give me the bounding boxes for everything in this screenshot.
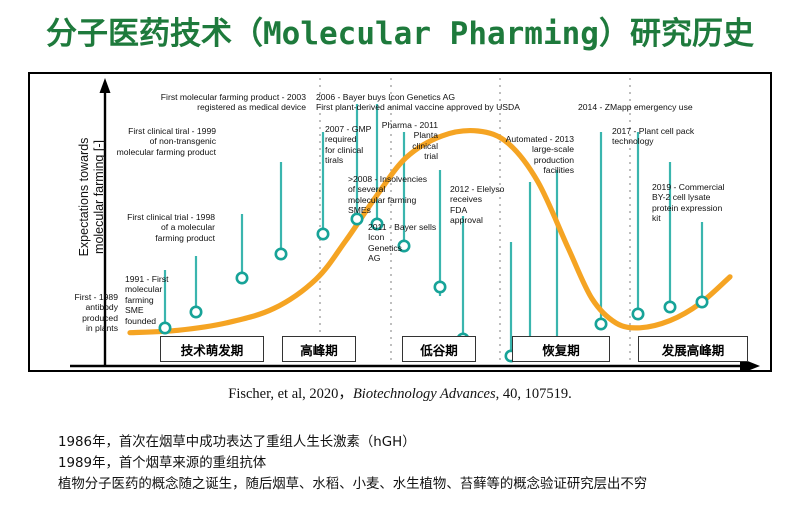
citation: Fischer, et al, 2020，Biotechnology Advan…: [0, 382, 800, 403]
event-annotation-2011a: Pharma - 2011 Planta clinical trial: [362, 120, 438, 162]
curve-marker: [318, 229, 328, 239]
curve-marker: [665, 302, 675, 312]
citation-suffix: , 40, 107519.: [496, 386, 572, 402]
curve-marker: [596, 319, 606, 329]
curve-marker: [191, 307, 201, 317]
curve-marker: [633, 309, 643, 319]
phase-box-2: 高峰期: [282, 336, 356, 362]
event-annotation-2008: >2008 - Insolvencies of several molecula…: [348, 174, 450, 216]
curve-marker: [697, 297, 707, 307]
event-annotation-1989: First - 1989 antibody produced in plants: [40, 292, 118, 334]
note-line-1: 1986年，首次在烟草中成功表达了重组人生长激素（hGH）: [58, 432, 788, 453]
phase-box-3: 低谷期: [402, 336, 476, 362]
event-annotation-1999: First clinical tiral - 1999 of non-trans…: [38, 126, 216, 157]
event-annotation-2011b: 2011 - Bayer sells Icon Genetics AG: [368, 222, 446, 264]
phase-box-5: 发展高峰期: [638, 336, 748, 362]
citation-prefix: Fischer, et al, 2020，: [228, 386, 353, 402]
event-annotation-2003: First molecular farming product - 2003 r…: [88, 92, 306, 113]
curve-marker: [276, 249, 286, 259]
event-annotation-2006: 2006 - Bayer buys Icon Genetics AG First…: [316, 92, 576, 113]
chart-container: Expectations towards molecular farming […: [28, 72, 772, 372]
note-line-2: 1989年，首个烟草来源的重组抗体: [58, 453, 788, 474]
citation-journal: Biotechnology Advances: [353, 386, 496, 402]
event-annotation-2013: Automated - 2013 large-scale production …: [470, 134, 574, 176]
event-annotation-1998: First clinical trial - 1998 of a molecul…: [65, 212, 215, 243]
phase-box-1: 技术萌发期: [160, 336, 264, 362]
curve-marker: [435, 282, 445, 292]
event-annotation-2014: 2014 - ZMapp emergency use: [578, 102, 728, 112]
phase-box-4: 恢复期: [512, 336, 610, 362]
y-axis-label: Expectations towards molecular farming […: [77, 92, 107, 302]
event-annotation-1991: 1991 - First molecular farming SME found…: [125, 274, 187, 326]
event-annotation-2017: 2017 - Plant cell pack technology: [612, 126, 722, 147]
y-axis-arrow-icon: [100, 78, 111, 93]
note-line-3: 植物分子医药的概念随之诞生，随后烟草、水稻、小麦、水生植物、苔藓等的概念验证研究…: [58, 474, 788, 495]
page-title: 分子医药技术（Molecular Pharming）研究历史: [0, 8, 800, 53]
chart-inner: Expectations towards molecular farming […: [30, 74, 770, 370]
curve-marker: [237, 273, 247, 283]
bottom-notes: 1986年，首次在烟草中成功表达了重组人生长激素（hGH） 1989年，首个烟草…: [58, 432, 788, 495]
slide-root: 分子医药技术（Molecular Pharming）研究历史 Ex: [0, 0, 800, 505]
event-annotation-2019: 2019 - Commercial BY-2 cell lysate prote…: [652, 182, 756, 224]
event-annotation-2012: 2012 - Elelyso receives FDA approval: [450, 184, 526, 226]
